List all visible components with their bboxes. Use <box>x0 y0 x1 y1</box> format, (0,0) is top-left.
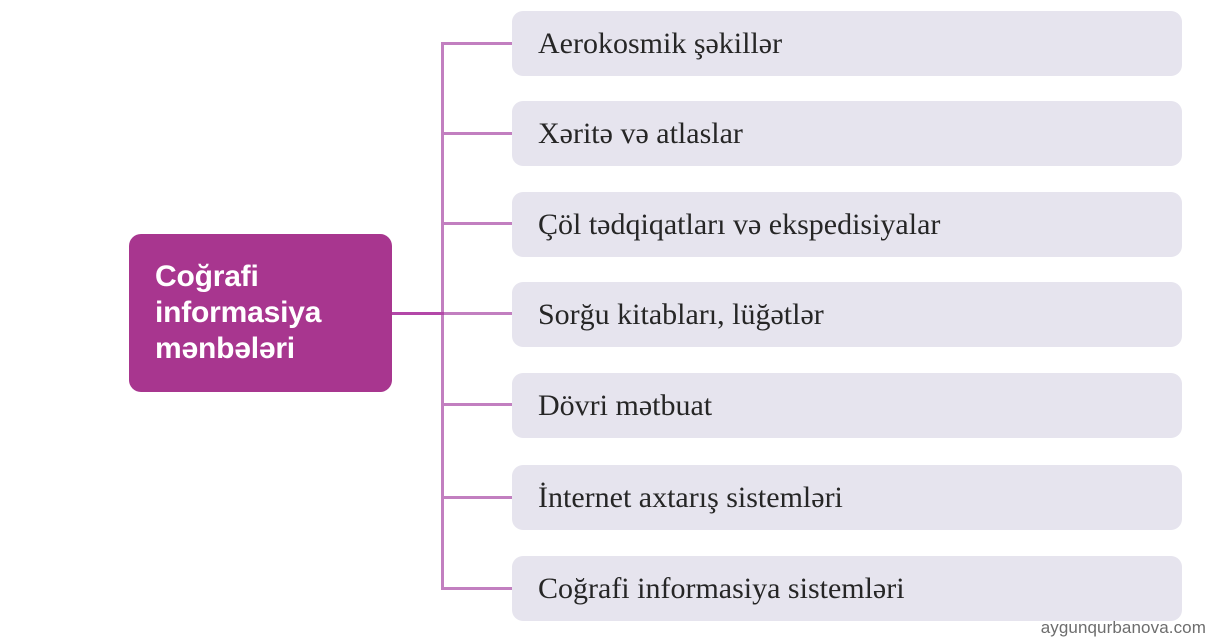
leaf-item-cografi-informasiya-sistemleri[interactable]: Coğrafi informasiya sistemləri <box>512 556 1182 621</box>
connector-branch <box>441 496 514 499</box>
leaf-item-dovri-metbuat[interactable]: Dövri mətbuat <box>512 373 1182 438</box>
leaf-item-label: Çöl tədqiqatları və ekspedisiyalar <box>538 208 940 241</box>
connector-branch <box>441 403 514 406</box>
connector-root-stub <box>390 312 444 315</box>
leaf-item-label: Dövri mətbuat <box>538 389 712 422</box>
leaf-item-sorgu-kitablari[interactable]: Sorğu kitabları, lüğətlər <box>512 282 1182 347</box>
connector-spine <box>441 42 444 589</box>
root-node-label: Coğrafi informasiya mənbələri <box>155 259 321 366</box>
connector-branch <box>441 42 514 45</box>
connector-branch <box>441 587 514 590</box>
leaf-item-col-tedqiqatlari[interactable]: Çöl tədqiqatları və ekspedisiyalar <box>512 192 1182 257</box>
diagram-canvas: Coğrafi informasiya mənbələri Aerokosmik… <box>0 0 1216 644</box>
root-node[interactable]: Coğrafi informasiya mənbələri <box>129 234 392 392</box>
watermark: aygunqurbanova.com <box>1041 618 1206 638</box>
leaf-item-label: İnternet axtarış sistemləri <box>538 481 843 514</box>
leaf-item-xerite-ve-atlaslar[interactable]: Xəritə və atlaslar <box>512 101 1182 166</box>
leaf-item-label: Xəritə və atlaslar <box>538 117 743 150</box>
leaf-item-internet-axtaris[interactable]: İnternet axtarış sistemləri <box>512 465 1182 530</box>
connector-branch <box>441 312 514 315</box>
leaf-item-label: Aerokosmik şəkillər <box>538 27 782 60</box>
leaf-item-aerokosmik-sekiller[interactable]: Aerokosmik şəkillər <box>512 11 1182 76</box>
leaf-item-label: Coğrafi informasiya sistemləri <box>538 572 905 605</box>
connector-branch <box>441 222 514 225</box>
connector-branch <box>441 132 514 135</box>
leaf-item-label: Sorğu kitabları, lüğətlər <box>538 298 824 331</box>
